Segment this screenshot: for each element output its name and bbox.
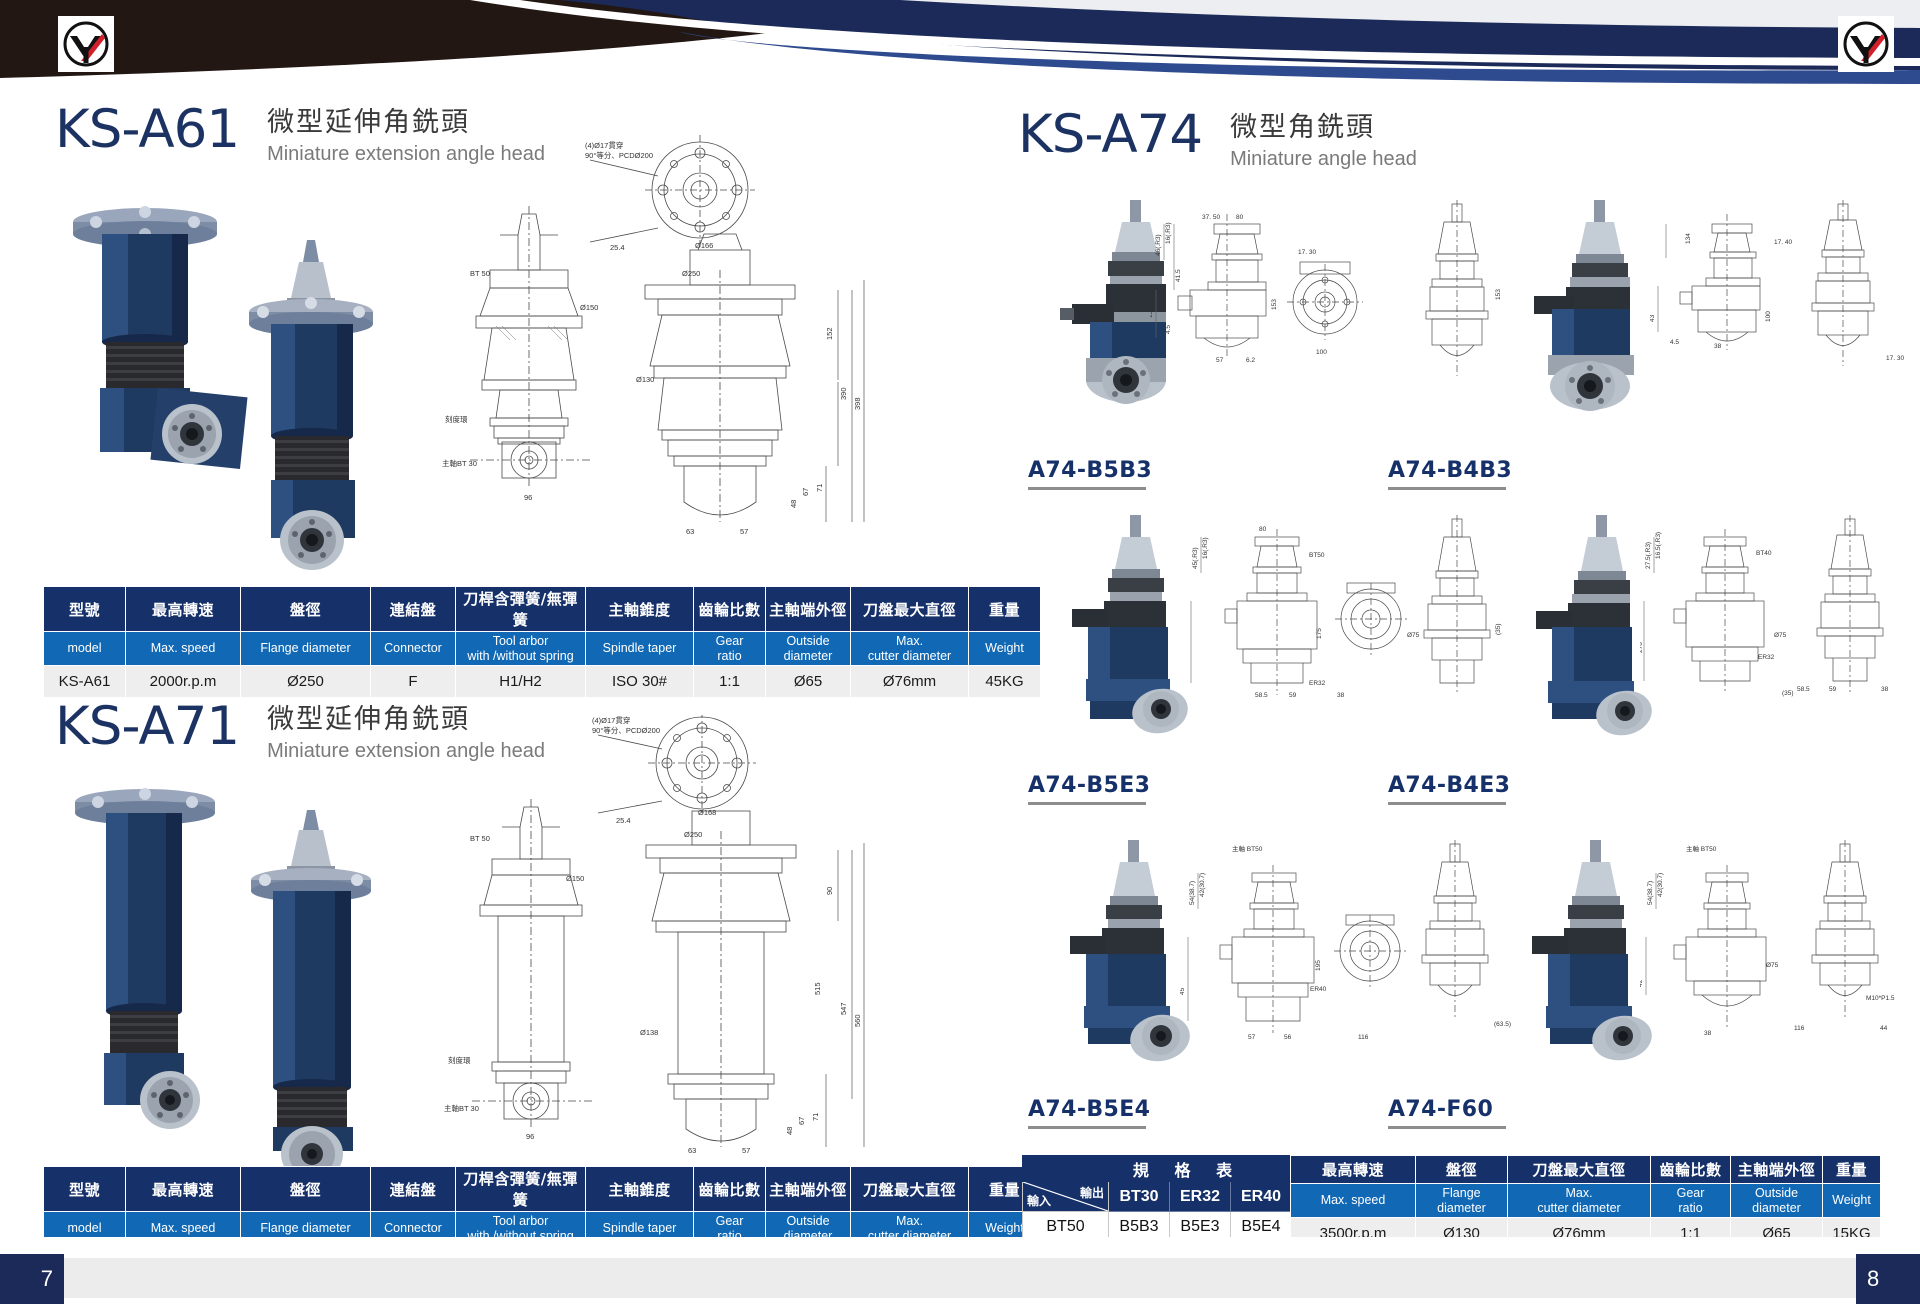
svg-text:(4)Ø17貫穿: (4)Ø17貫穿 xyxy=(592,715,630,725)
label-underline xyxy=(1028,487,1146,490)
svg-text:主軸BT 30: 主軸BT 30 xyxy=(444,1103,479,1113)
svg-text:4.5: 4.5 xyxy=(1670,339,1679,346)
svg-text:BT 50: BT 50 xyxy=(470,269,490,278)
table-header-row-en: model Max. speed Flange diameter Connect… xyxy=(44,632,1041,666)
th-cn-maxspeed: 最高轉速 xyxy=(126,587,241,632)
side-view-a74-b4e3: 58.55938 xyxy=(1795,515,1915,750)
svg-text:96: 96 xyxy=(524,493,532,502)
th-en-gear: Gear ratio xyxy=(694,632,766,666)
label-underline xyxy=(1028,802,1146,805)
svg-text:主軸 BT50: 主軸 BT50 xyxy=(1232,845,1263,853)
svg-text:ER32: ER32 xyxy=(1758,654,1775,661)
svg-text:25.4: 25.4 xyxy=(616,816,631,825)
svg-text:37. 50: 37. 50 xyxy=(1202,214,1220,221)
product-photo-ks-a61-b xyxy=(215,240,425,570)
matrix-col-bt30: BT30 xyxy=(1109,1182,1170,1212)
cell-model: KS-A61 xyxy=(44,666,126,698)
th-en-cutter: Max. cutter diameter xyxy=(1508,1184,1651,1218)
svg-text:6.2: 6.2 xyxy=(1246,357,1255,364)
th-en-model: model xyxy=(44,632,126,666)
label-underline xyxy=(1388,1126,1506,1129)
cell-gear: 1:1 xyxy=(694,666,766,698)
svg-text:BT50: BT50 xyxy=(1309,552,1325,559)
svg-text:398: 398 xyxy=(853,397,862,410)
svg-text:547: 547 xyxy=(839,1002,848,1015)
technical-drawing-ks-a61: (4)Ø17貫穿 90°等分、PCDØ200 25.4 BT 50 Ø150 Ø… xyxy=(440,130,900,550)
company-logo-left xyxy=(58,16,114,72)
th-cn-toolarbor: 刀桿含彈簧/無彈簧 xyxy=(456,587,586,632)
svg-text:Ø138: Ø138 xyxy=(640,1028,658,1037)
product-name-cn: 微型角銑頭 xyxy=(1230,111,1417,145)
svg-text:80: 80 xyxy=(1259,526,1267,533)
svg-text:515: 515 xyxy=(813,982,822,995)
svg-text:57: 57 xyxy=(740,527,748,536)
th-cn-maxspeed: 最高轉速 xyxy=(1291,1156,1416,1184)
svg-text:Ø150: Ø150 xyxy=(580,303,598,312)
svg-text:90: 90 xyxy=(825,887,834,895)
matrix-col-er32: ER32 xyxy=(1170,1182,1231,1212)
table-header-row-cn: 型號 最高轉速 盤徑 連結盤 刀桿含彈簧/無彈簧 主軸錐度 齒輪比數 主軸端外徑… xyxy=(44,587,1041,632)
footer-grey-band xyxy=(0,1258,1920,1298)
th-en-maxspeed: Max. speed xyxy=(1291,1184,1416,1218)
th-en-flange: Flange diameter xyxy=(241,632,371,666)
svg-text:Ø130: Ø130 xyxy=(636,375,654,384)
svg-text:(4)Ø17貫穿: (4)Ø17貫穿 xyxy=(585,140,623,150)
svg-text:153: 153 xyxy=(1271,299,1278,310)
svg-text:17. 30: 17. 30 xyxy=(1298,249,1316,256)
page-number-left: 7 xyxy=(0,1254,64,1304)
th-cn-maxspeed: 最高轉速 xyxy=(126,1167,241,1212)
svg-text:M10*P1.5: M10*P1.5 xyxy=(1866,995,1895,1002)
svg-text:主軸 BT50: 主軸 BT50 xyxy=(1686,845,1717,853)
table-header-row-cn: 最高轉速 盤徑 刀盤最大直徑 齒輪比數 主軸端外徑 重量 xyxy=(1291,1156,1881,1184)
svg-text:195: 195 xyxy=(1315,960,1322,971)
svg-text:560: 560 xyxy=(853,1014,862,1027)
variant-label-a74-b4b3: A74-B4B3 xyxy=(1388,458,1512,490)
th-cn-connector: 連結盤 xyxy=(371,587,456,632)
svg-text:ER40: ER40 xyxy=(1310,986,1327,993)
svg-text:45(.R3): 45(.R3) xyxy=(1192,547,1199,569)
svg-text:71: 71 xyxy=(815,484,824,492)
variant-label-a74-f60: A74-F60 xyxy=(1388,1097,1506,1129)
svg-text:38: 38 xyxy=(1704,1030,1712,1037)
svg-text:175: 175 xyxy=(1316,628,1323,639)
th-cn-flange: 盤徑 xyxy=(241,587,371,632)
product-code: KS-A71 xyxy=(55,700,239,753)
svg-text:43: 43 xyxy=(1650,314,1656,322)
matrix-col-er40: ER40 xyxy=(1231,1182,1292,1212)
svg-text:主軸BT 30: 主軸BT 30 xyxy=(442,458,477,468)
label-underline xyxy=(1388,487,1506,490)
svg-text:42(30.7): 42(30.7) xyxy=(1199,873,1206,897)
svg-text:16(.R3): 16(.R3) xyxy=(1165,222,1172,244)
th-en-gear: Gear ratio xyxy=(1651,1184,1731,1218)
technical-drawing-a74-b5e4: 42(30.7) 54(38.7) 45 主軸 BT50 ER40 5756 1… xyxy=(1180,845,1430,1075)
th-cn-cutter: 刀盤最大直徑 xyxy=(851,1167,969,1212)
svg-text:54(38.7): 54(38.7) xyxy=(1647,881,1654,905)
label-underline xyxy=(1388,802,1506,805)
svg-text:390: 390 xyxy=(839,387,848,400)
th-cn-outside: 主軸端外徑 xyxy=(766,587,851,632)
variant-label-a74-b5e3: A74-B5E3 xyxy=(1028,773,1150,805)
technical-drawing-a74-b5b3: 37. 50 80 16(.R3) 46(.R3) 15 41.5 4.5 57… xyxy=(1150,210,1410,430)
th-en-outside: Outside diameter xyxy=(1731,1184,1823,1218)
svg-text:BT40: BT40 xyxy=(1756,550,1772,557)
cell-connector: F xyxy=(371,666,456,698)
table-header-row-en: Max. speed Flange diameter Max. cutter d… xyxy=(1291,1184,1881,1218)
svg-text:45: 45 xyxy=(1180,987,1186,995)
svg-text:80: 80 xyxy=(1236,214,1244,221)
cell-flange: Ø250 xyxy=(241,666,371,698)
product-name-en: Miniature angle head xyxy=(1230,146,1417,172)
svg-text:56: 56 xyxy=(1284,1034,1292,1041)
table-row: KS-A61 2000r.p.m Ø250 F H1/H2 ISO 30# 1:… xyxy=(44,666,1041,698)
product-photo-a74-b4b3 xyxy=(1490,200,1660,430)
product-photo-a74-b5e4 xyxy=(1030,840,1200,1070)
svg-text:42: 42 xyxy=(1640,979,1644,987)
matrix-corner-input: 輸入 xyxy=(1027,1192,1051,1209)
svg-text:48: 48 xyxy=(789,500,798,508)
table-header-row-cn: 型號 最高轉速 盤徑 連結盤 刀桿含彈簧/無彈簧 主軸錐度 齒輪比數 主軸端外徑… xyxy=(44,1167,1041,1212)
th-en-toolarbor: Tool arbor with /without spring xyxy=(456,632,586,666)
page-number-right: 8 xyxy=(1856,1254,1920,1304)
th-cn-outside: 主軸端外徑 xyxy=(1731,1156,1823,1184)
side-view-a74-b4b3: 17. 30 xyxy=(1790,200,1910,430)
svg-text:Ø166: Ø166 xyxy=(695,241,713,250)
top-banner xyxy=(0,0,1920,92)
svg-text:38: 38 xyxy=(1714,343,1722,350)
svg-text:57: 57 xyxy=(742,1146,750,1155)
variant-label-a74-b5e4: A74-B5E4 xyxy=(1028,1097,1150,1129)
svg-text:15: 15 xyxy=(1150,310,1154,318)
company-logo-icon xyxy=(1841,19,1891,69)
svg-text:57: 57 xyxy=(1248,1034,1256,1041)
svg-text:Ø150: Ø150 xyxy=(566,874,584,883)
svg-text:90°等分、PCDØ200: 90°等分、PCDØ200 xyxy=(585,150,653,160)
svg-text:100: 100 xyxy=(1316,349,1327,356)
catalog-page-spread: KS-A61 微型延伸角銑頭 Miniature extension angle… xyxy=(0,0,1920,1311)
svg-text:刻度環: 刻度環 xyxy=(448,1055,471,1065)
matrix-corner-output: 輸出 xyxy=(1080,1184,1104,1201)
product-title-ks-a74: KS-A74 微型角銑頭 Miniature angle head xyxy=(1018,108,1417,172)
th-cn-gear: 齒輪比數 xyxy=(694,1167,766,1212)
th-cn-taper: 主軸錐度 xyxy=(586,587,694,632)
svg-text:Ø250: Ø250 xyxy=(682,269,700,278)
svg-text:116: 116 xyxy=(1794,1025,1805,1032)
svg-text:27.5(.R3): 27.5(.R3) xyxy=(1645,542,1652,569)
th-cn-connector: 連結盤 xyxy=(371,1167,456,1212)
svg-text:71: 71 xyxy=(811,1113,820,1121)
svg-text:Ø75: Ø75 xyxy=(1766,962,1779,969)
spec-table-ks-a74: 最高轉速 盤徑 刀盤最大直徑 齒輪比數 主軸端外徑 重量 Max. speed … xyxy=(1290,1155,1881,1250)
company-logo-right xyxy=(1838,16,1894,72)
th-cn-model: 型號 xyxy=(44,1167,126,1212)
th-en-connector: Connector xyxy=(371,632,456,666)
technical-drawing-a74-b5e3: 80 16(.R3) 45(.R3) BT50 58.559 ER32 38 1… xyxy=(1185,525,1425,750)
th-cn-gear: 齒輪比數 xyxy=(694,587,766,632)
svg-text:270: 270 xyxy=(1640,642,1644,653)
svg-text:16(.R3): 16(.R3) xyxy=(1202,537,1209,559)
th-en-taper: Spindle taper xyxy=(586,632,694,666)
variant-label-a74-b4e3: A74-B4E3 xyxy=(1388,773,1510,805)
cell-maxspeed: 2000r.p.m xyxy=(126,666,241,698)
svg-text:Ø250: Ø250 xyxy=(684,830,702,839)
product-code: KS-A61 xyxy=(55,103,239,156)
svg-text:Ø75: Ø75 xyxy=(1774,632,1787,639)
th-cn-flange: 盤徑 xyxy=(241,1167,371,1212)
product-code: KS-A74 xyxy=(1018,108,1202,161)
cell-taper: ISO 30# xyxy=(586,666,694,698)
technical-drawing-a74-f60: 42(30.7) 54(38.7) 主軸 BT50 42 38 Ø75 xyxy=(1640,845,1810,1075)
svg-text:44: 44 xyxy=(1880,1025,1888,1032)
spec-table-ks-a61: 型號 最高轉速 盤徑 連結盤 刀桿含彈簧/無彈簧 主軸錐度 齒輪比數 主軸端外徑… xyxy=(43,586,1041,698)
svg-text:38: 38 xyxy=(1881,686,1889,693)
svg-text:54(38.7): 54(38.7) xyxy=(1189,881,1196,905)
cell-cutter: Ø76mm xyxy=(851,666,969,698)
cell-toolarbor: H1/H2 xyxy=(456,666,586,698)
th-cn-outside: 主軸端外徑 xyxy=(766,1167,851,1212)
th-cn-cutter: 刀盤最大直徑 xyxy=(1508,1156,1651,1184)
svg-text:41.5: 41.5 xyxy=(1175,269,1182,282)
variant-label-a74-b5b3: A74-B5B3 xyxy=(1028,458,1152,490)
th-en-flange: Flange diameter xyxy=(1416,1184,1508,1218)
label-underline xyxy=(1028,1126,1146,1129)
company-logo-icon xyxy=(61,19,111,69)
th-cn-weight: 重量 xyxy=(1823,1156,1881,1184)
th-cn-taper: 主軸錐度 xyxy=(586,1167,694,1212)
svg-text:46(.R3): 46(.R3) xyxy=(1155,234,1162,256)
product-photo-a74-b5e3 xyxy=(1030,515,1200,750)
th-en-cutter: Max. cutter diameter xyxy=(851,632,969,666)
technical-drawing-ks-a71: (4)Ø17貫穿 90°等分、PCDØ200 25.4 BT 50 Ø150 Ø… xyxy=(440,715,900,1155)
side-view-a74-f60: M10*P1.5 44 116 xyxy=(1790,840,1915,1070)
th-en-weight: Weight xyxy=(1823,1184,1881,1218)
svg-text:152: 152 xyxy=(825,327,834,340)
th-cn-model: 型號 xyxy=(44,587,126,632)
svg-text:59: 59 xyxy=(1829,686,1837,693)
svg-text:ER32: ER32 xyxy=(1309,680,1326,687)
technical-drawing-a74-b4e3: 16.5(.R3) 27.5(.R3) BT40 270 ER32 Ø75 (3… xyxy=(1640,525,1805,750)
svg-text:48: 48 xyxy=(785,1127,794,1135)
th-cn-gear: 齒輪比數 xyxy=(1651,1156,1731,1184)
svg-text:116: 116 xyxy=(1358,1034,1369,1041)
svg-text:25.4: 25.4 xyxy=(610,243,625,252)
matrix-corner-cell: 輸出 輸入 xyxy=(1023,1182,1109,1212)
th-en-maxspeed: Max. speed xyxy=(126,632,241,666)
technical-drawing-a74-b4b3: 134 43 4.5 38 17. 40 100 xyxy=(1650,210,1800,430)
svg-text:16.5(.R3): 16.5(.R3) xyxy=(1655,532,1662,559)
svg-text:17. 30: 17. 30 xyxy=(1886,355,1904,362)
svg-text:Ø168: Ø168 xyxy=(698,808,716,817)
svg-text:100: 100 xyxy=(1765,311,1772,322)
svg-text:59: 59 xyxy=(1289,692,1297,699)
svg-text:63: 63 xyxy=(686,527,694,536)
svg-text:57: 57 xyxy=(1216,357,1224,364)
svg-text:4.5: 4.5 xyxy=(1165,325,1172,334)
cell-outside: Ø65 xyxy=(766,666,851,698)
svg-text:42(30.7): 42(30.7) xyxy=(1657,873,1664,897)
svg-text:58.5: 58.5 xyxy=(1797,686,1810,693)
product-photo-a74-f60 xyxy=(1490,840,1660,1070)
svg-text:58.5: 58.5 xyxy=(1255,692,1268,699)
th-en-outside: Outside diameter xyxy=(766,632,851,666)
svg-text:38: 38 xyxy=(1337,692,1345,699)
svg-text:134: 134 xyxy=(1685,233,1692,244)
svg-text:90°等分、PCDØ200: 90°等分、PCDØ200 xyxy=(592,725,660,735)
svg-text:67: 67 xyxy=(801,488,810,496)
svg-text:刻度環: 刻度環 xyxy=(445,414,468,424)
svg-text:63: 63 xyxy=(688,1146,696,1155)
svg-text:96: 96 xyxy=(526,1132,534,1141)
th-cn-flange: 盤徑 xyxy=(1416,1156,1508,1184)
product-photo-a74-b4e3 xyxy=(1490,515,1660,750)
th-cn-toolarbor: 刀桿含彈簧/無彈簧 xyxy=(456,1167,586,1212)
svg-text:BT 50: BT 50 xyxy=(470,834,490,843)
svg-text:67: 67 xyxy=(797,1117,806,1125)
th-cn-cutter: 刀盤最大直徑 xyxy=(851,587,969,632)
product-photo-ks-a71-b xyxy=(215,810,425,1180)
svg-text:(35): (35) xyxy=(1782,690,1794,697)
